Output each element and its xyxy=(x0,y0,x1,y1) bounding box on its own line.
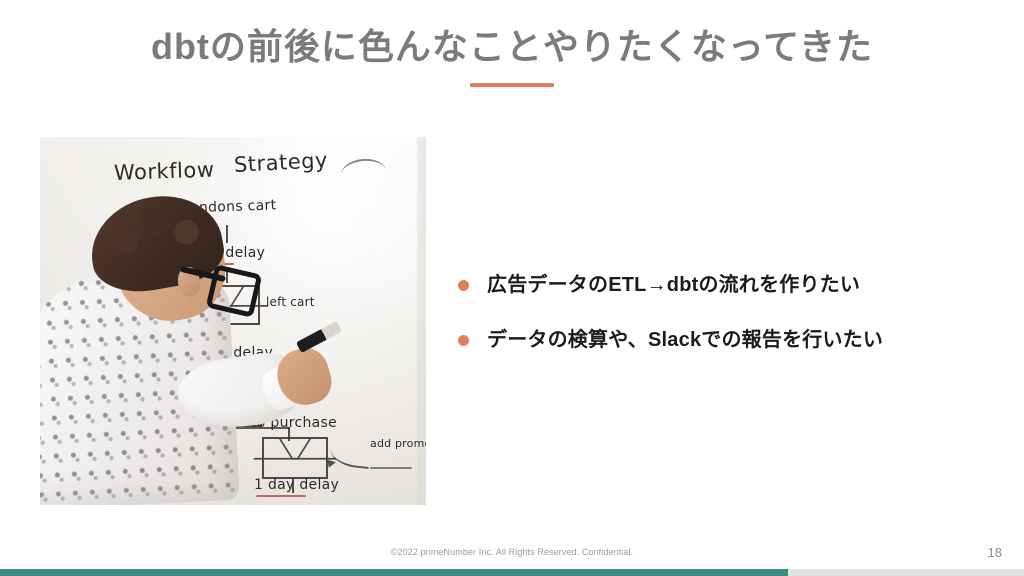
page-number: 18 xyxy=(988,545,1002,560)
progress-fill xyxy=(0,569,788,576)
annotation-arrow-head xyxy=(327,458,336,467)
bullet-text: 広告データのETL→dbtの流れを作りたい xyxy=(487,272,860,299)
title-block: dbtの前後に色んなことやりたくなってきた xyxy=(0,24,1024,87)
list-item: データの検算や、Slackでの報告を行いたい xyxy=(458,327,998,354)
slide-canvas: dbtの前後に色んなことやりたくなってきた Workflow Strategy … xyxy=(0,0,1024,576)
bullet-text: データの検算や、Slackでの報告を行いたい xyxy=(487,327,883,354)
handwriting-annotation-add-promo: add promo xyxy=(370,437,426,450)
progress-track xyxy=(0,569,1024,576)
handwriting-workflow: Workflow xyxy=(114,158,215,185)
bullet-dot-icon xyxy=(458,280,469,291)
footer-copyright: ©2022 primeNumber Inc. All Rights Reserv… xyxy=(0,547,1024,557)
person-figure xyxy=(40,215,240,505)
handwriting-node-1day-delay-2: 1 day delay xyxy=(254,477,339,493)
title-underline-accent xyxy=(470,83,554,87)
whiteboard-photo: Workflow Strategy abandons cart 1 hr. de… xyxy=(40,137,426,505)
page-title: dbtの前後に色んなことやりたくなってきた xyxy=(0,24,1024,69)
handwriting-node-left-cart: left cart xyxy=(266,295,315,309)
list-item: 広告データのETL→dbtの流れを作りたい xyxy=(458,272,998,299)
annotation-underline xyxy=(370,467,412,469)
bullet-dot-icon xyxy=(458,335,469,346)
envelope-icon xyxy=(262,437,328,479)
handwriting-strategy: Strategy xyxy=(233,148,328,177)
bullet-list: 広告データのETL→dbtの流れを作りたい データの検算や、Slackでの報告を… xyxy=(458,272,998,382)
red-underline xyxy=(256,495,306,497)
